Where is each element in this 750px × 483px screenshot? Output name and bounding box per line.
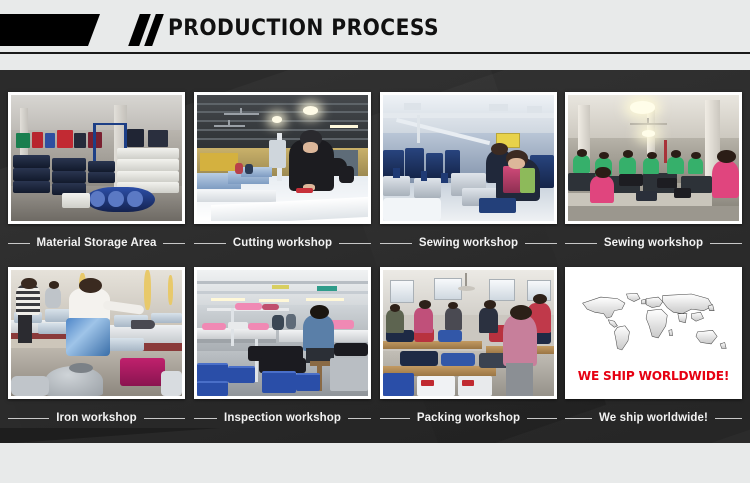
caption-line-right [348,418,371,419]
photo-frame[interactable] [8,92,185,224]
caption-label: Sewing workshop [419,237,518,249]
photo-frame[interactable]: WE SHIP WORLDWIDE! [565,267,742,399]
caption-label: Iron workshop [56,412,137,424]
we-ship-worldwide-map-photo: WE SHIP WORLDWIDE! [568,270,739,396]
caption-line-right [710,243,742,244]
gallery-cell-sewing-workshop-1[interactable]: Sewing workshop [380,92,557,267]
gallery-panel: Material Storage Area [0,70,750,443]
material-storage-area-photo [11,95,182,221]
caption-line-left [565,243,597,244]
photo-frame[interactable] [8,267,185,399]
gallery-cell-inspection-workshop[interactable]: Inspection workshop [194,267,371,442]
caption-line-right [339,243,371,244]
caption-line-left [380,243,412,244]
page-header: PRODUCTION PROCESS [0,0,750,70]
caption-label: Material Storage Area [37,237,157,249]
caption-label: Packing workshop [417,412,520,424]
caption-material-storage-area: Material Storage Area [8,226,185,260]
page-title: PRODUCTION PROCESS [168,13,439,45]
photo-frame[interactable] [380,92,557,224]
caption-we-ship-worldwide: We ship worldwide! [565,401,742,435]
caption-line-right [715,418,742,419]
photo-frame[interactable] [380,267,557,399]
caption-sewing-workshop-1: Sewing workshop [380,226,557,260]
caption-label: Cutting workshop [233,237,332,249]
caption-line-right [163,243,185,244]
gallery-cell-sewing-workshop-2[interactable]: Sewing workshop [565,92,742,267]
header-divider [0,52,750,54]
caption-line-right [525,243,557,244]
caption-label: Inspection workshop [224,412,341,424]
caption-line-left [194,418,217,419]
caption-packing-workshop: Packing workshop [380,401,557,435]
caption-inspection-workshop: Inspection workshop [194,401,371,435]
iron-workshop-photo [11,270,182,396]
caption-line-left [8,418,49,419]
photo-frame[interactable] [194,92,371,224]
caption-line-left [8,243,30,244]
caption-line-left [565,418,592,419]
gallery-row-1: Material Storage Area [0,92,750,267]
page-footer [0,443,750,483]
inspection-workshop-photo [197,270,368,396]
cutting-workshop-photo [197,95,368,221]
sewing-workshop-photo-1 [383,95,554,221]
packing-workshop-photo [383,270,554,396]
photo-frame[interactable] [194,267,371,399]
caption-label: Sewing workshop [604,237,703,249]
caption-sewing-workshop-2: Sewing workshop [565,226,742,260]
gallery-cell-iron-workshop[interactable]: Iron workshop [8,267,185,442]
gallery-cell-we-ship-worldwide[interactable]: WE SHIP WORLDWIDE! We ship worldwide! [565,267,742,442]
caption-line-left [380,418,410,419]
caption-cutting-workshop: Cutting workshop [194,226,371,260]
gallery-cell-cutting-workshop[interactable]: Cutting workshop [194,92,371,267]
world-map-icon [575,288,732,356]
caption-line-left [194,243,226,244]
gallery-row-2: Iron workshop [0,267,750,442]
photo-frame[interactable] [565,92,742,224]
gallery-cell-material-storage-area[interactable]: Material Storage Area [8,92,185,267]
sewing-workshop-photo-2 [568,95,739,221]
caption-line-right [527,418,557,419]
production-process-page: PRODUCTION PROCESS [0,0,750,483]
header-banner-shape-icon [0,14,100,46]
gallery-cell-packing-workshop[interactable]: Packing workshop [380,267,557,442]
caption-line-right [144,418,185,419]
caption-label: We ship worldwide! [599,412,708,424]
we-ship-worldwide-text: WE SHIP WORLDWIDE! [571,368,737,383]
